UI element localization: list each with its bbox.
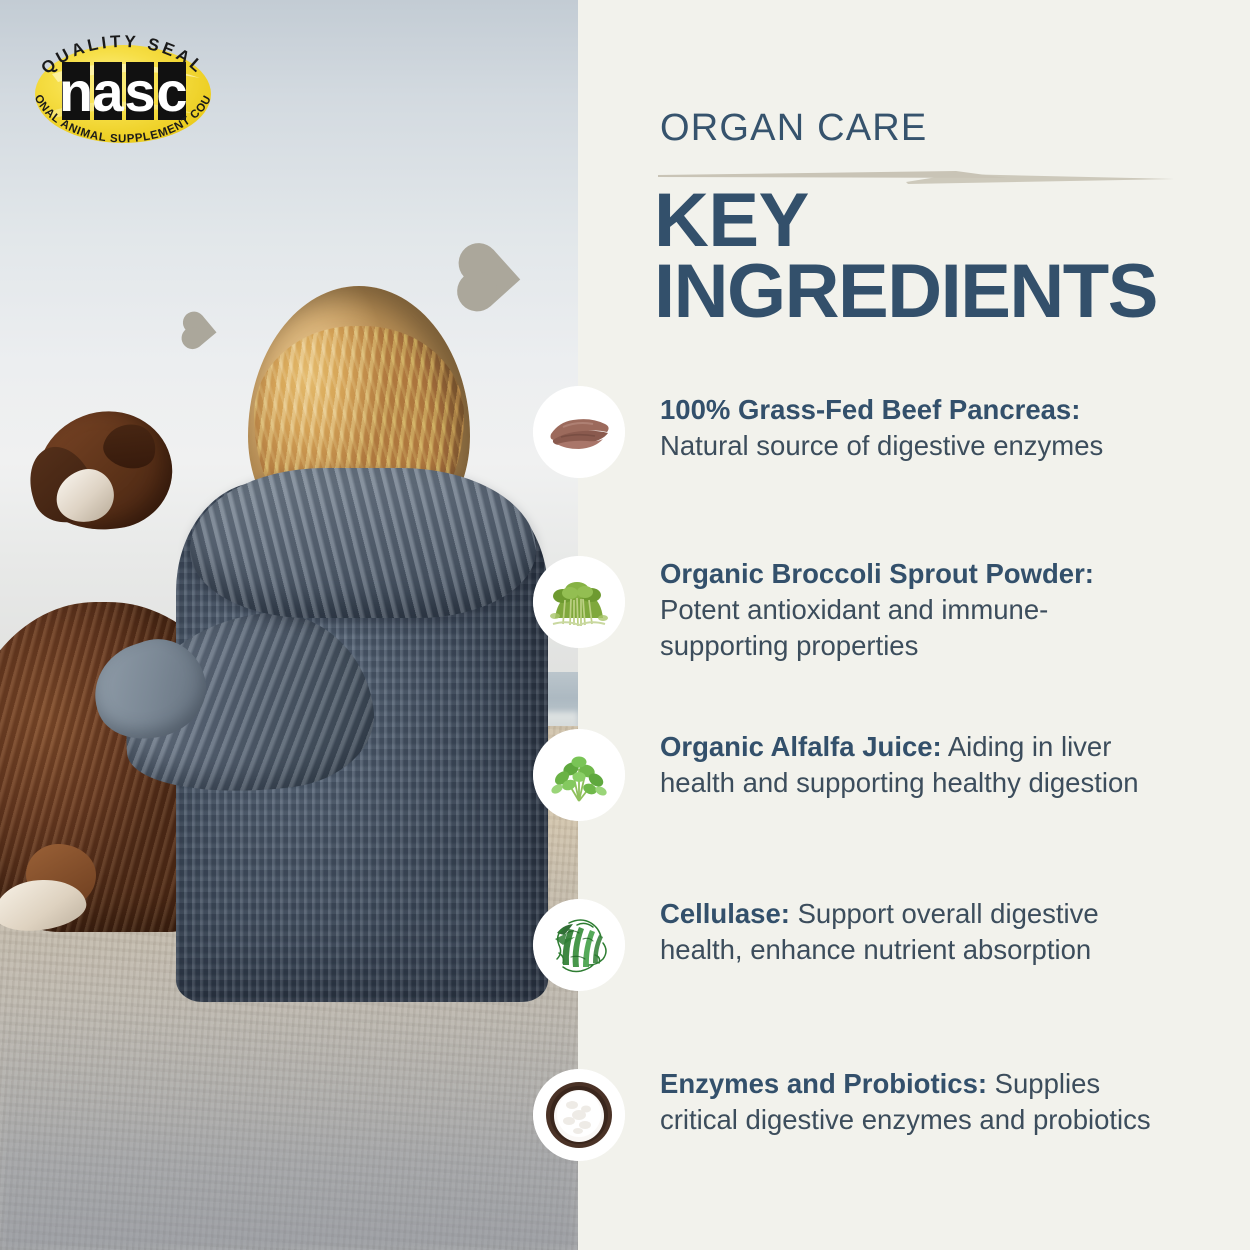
content-panel: ORGAN CARE KEY INGREDIENTS 100% Grass-Fe… xyxy=(578,0,1250,1250)
page-title: KEY INGREDIENTS xyxy=(654,186,1250,327)
beef-pancreas-icon xyxy=(533,386,625,478)
alfalfa-sprout-icon xyxy=(533,729,625,821)
svg-text:a: a xyxy=(92,60,124,123)
ingredient-name-3: Organic Alfalfa Juice: xyxy=(660,731,942,762)
lifestyle-photo: n a s c QUALITY SEAL NATIONAL ANIMAL SUP… xyxy=(0,0,578,1250)
nasc-quality-seal: n a s c QUALITY SEAL NATIONAL ANIMAL SUP… xyxy=(18,16,228,168)
powder-bowl-icon xyxy=(533,1069,625,1161)
kicker-text: ORGAN CARE xyxy=(660,107,927,150)
svg-text:s: s xyxy=(124,60,155,123)
ingredient-desc-2: Potent antioxidant and immune-supporting… xyxy=(660,594,1048,661)
ingredient-text-1: 100% Grass-Fed Beef Pancreas: Natural so… xyxy=(660,392,1172,464)
sand-foreground-blur xyxy=(0,1010,578,1250)
ingredient-name-2: Organic Broccoli Sprout Powder: xyxy=(660,558,1094,589)
ingredient-name-5: Enzymes and Probiotics: xyxy=(660,1068,987,1099)
sweater-hood xyxy=(190,468,536,618)
woman-figure xyxy=(118,286,538,986)
ingredient-name-1: 100% Grass-Fed Beef Pancreas: xyxy=(660,394,1080,425)
headline-line-2: INGREDIENTS xyxy=(654,257,1250,328)
powder-bowl-shape xyxy=(546,1082,612,1148)
ingredient-text-3: Organic Alfalfa Juice: Aiding in liver h… xyxy=(660,729,1172,801)
ingredient-name-4: Cellulase: xyxy=(660,898,790,929)
infographic-page: n a s c QUALITY SEAL NATIONAL ANIMAL SUP… xyxy=(0,0,1250,1250)
svg-text:c: c xyxy=(156,60,187,123)
ingredient-text-4: Cellulase: Support overall digestive hea… xyxy=(660,896,1172,968)
ingredient-text-2: Organic Broccoli Sprout Powder: Potent a… xyxy=(660,556,1172,663)
ingredient-desc-1: Natural source of digestive enzymes xyxy=(660,430,1103,461)
ingredient-text-5: Enzymes and Probiotics: Supplies critica… xyxy=(660,1066,1172,1138)
broccoli-sprout-icon xyxy=(533,556,625,648)
svg-text:n: n xyxy=(59,60,93,123)
cellulase-protein-icon xyxy=(533,899,625,991)
seal-wordmark: n a s c xyxy=(59,60,188,123)
